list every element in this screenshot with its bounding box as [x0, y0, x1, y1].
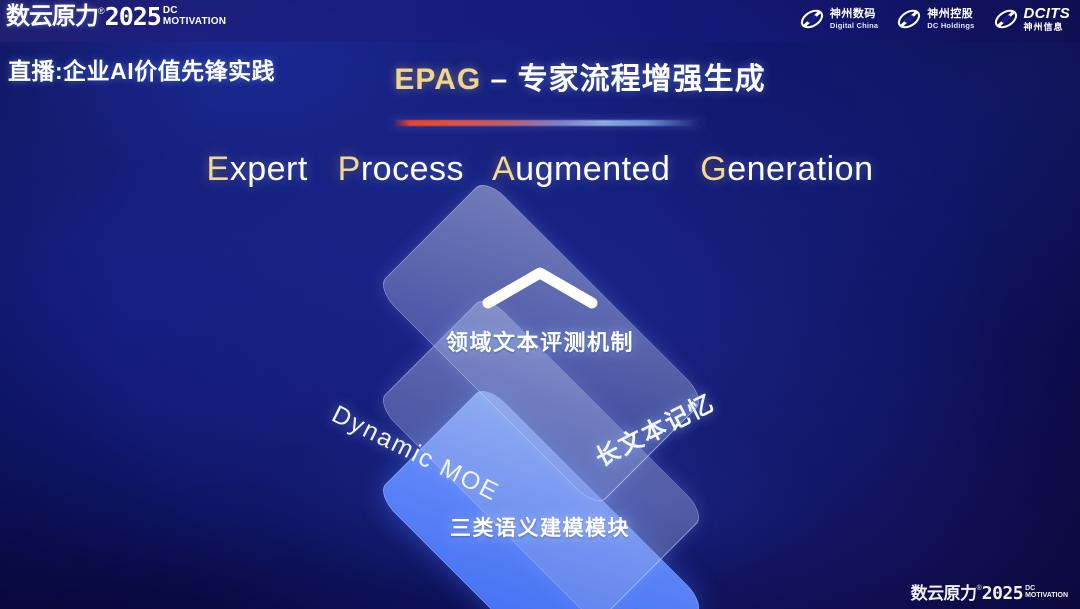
logo-digital-china: 神州数码 Digital China	[799, 6, 878, 32]
logo-dcits-cn: 神州信息	[1024, 23, 1071, 32]
event-logo-sub-line2: MOTIVATION	[163, 16, 226, 27]
chevron-up-icon	[478, 263, 602, 311]
acronym-expansion: Expert Process Augmented Generation	[0, 150, 1080, 189]
page-title: EPAG – 专家流程增强生成	[0, 54, 1080, 98]
expansion-cap-g: G	[700, 150, 727, 188]
watermark-sub-line1: DC	[1025, 585, 1068, 592]
logo-dc-holdings: 神州控股 DC Holdings	[896, 6, 974, 32]
expansion-word-augmented: Augmented	[492, 150, 670, 188]
digital-china-swirl-icon	[799, 6, 825, 32]
expansion-cap-a: A	[492, 150, 515, 188]
event-logo-sub-line1: DC	[163, 6, 226, 16]
dcits-swirl-icon	[993, 6, 1019, 32]
layered-architecture-diagram: 领域文本评测机制 Dynamic MOE 长文本记忆 三类语义建模模块	[0, 225, 1080, 585]
event-logo-cn: 数云原力	[6, 4, 98, 30]
expansion-space-1	[318, 150, 328, 188]
expansion-cap-p: P	[338, 150, 361, 188]
watermark-sub-line2: MOTIVATION	[1025, 592, 1068, 600]
logo-digital-china-text: 神州数码 Digital China	[830, 9, 878, 30]
page-title-chinese: 专家流程增强生成	[518, 63, 766, 96]
registered-mark: ®	[98, 5, 105, 17]
logo-dc-holdings-en: DC Holdings	[927, 22, 974, 30]
logo-dcits-text: DCITS 神州信息	[1024, 6, 1071, 32]
expansion-space-2	[474, 150, 484, 188]
logo-dc-holdings-text: 神州控股 DC Holdings	[927, 9, 974, 30]
presentation-slide: 数云原力 ® 2025 DC MOTIVATION 直播:企业AI价值先锋实践 …	[0, 0, 1080, 609]
watermark-subtitle: DC MOTIVATION	[1025, 585, 1068, 600]
expansion-cap-e: E	[207, 150, 230, 188]
event-logo-subtitle: DC MOTIVATION	[163, 6, 226, 27]
expansion-rest-process: rocess	[361, 150, 464, 188]
logo-dcits: DCITS 神州信息	[993, 6, 1071, 32]
page-title-separator: –	[481, 63, 517, 96]
expansion-word-process: Process	[338, 150, 464, 188]
diagram-layer-top-label: 领域文本评测机制	[0, 325, 1080, 357]
corporate-logo-group: 神州数码 Digital China 神州控股 DC Holdings	[799, 6, 1070, 32]
logo-dc-holdings-cn: 神州控股	[927, 9, 974, 20]
diagram-layer-bottom-label: 三类语义建模模块	[0, 512, 1080, 542]
logo-digital-china-cn: 神州数码	[830, 9, 878, 20]
gradient-divider	[392, 120, 702, 126]
dc-holdings-swirl-icon	[896, 6, 922, 32]
watermark-year: 2025	[982, 584, 1023, 603]
logo-digital-china-en: Digital China	[830, 22, 878, 30]
expansion-word-generation: Generation	[700, 150, 873, 188]
event-logo-year: 2025	[105, 4, 161, 30]
corner-watermark: 数云原力 ® 2025 DC MOTIVATION	[911, 584, 1068, 603]
expansion-rest-augmented: ugmented	[515, 150, 670, 188]
event-logo: 数云原力 ® 2025 DC MOTIVATION	[6, 4, 226, 30]
expansion-rest-generation: eneration	[727, 150, 873, 188]
watermark-cn: 数云原力	[911, 584, 977, 603]
page-title-acronym: EPAG	[394, 63, 481, 96]
expansion-space-3	[680, 150, 690, 188]
expansion-rest-expert: xpert	[230, 150, 308, 188]
expansion-word-expert: Expert	[207, 150, 308, 188]
logo-dcits-en: DCITS	[1024, 6, 1071, 21]
